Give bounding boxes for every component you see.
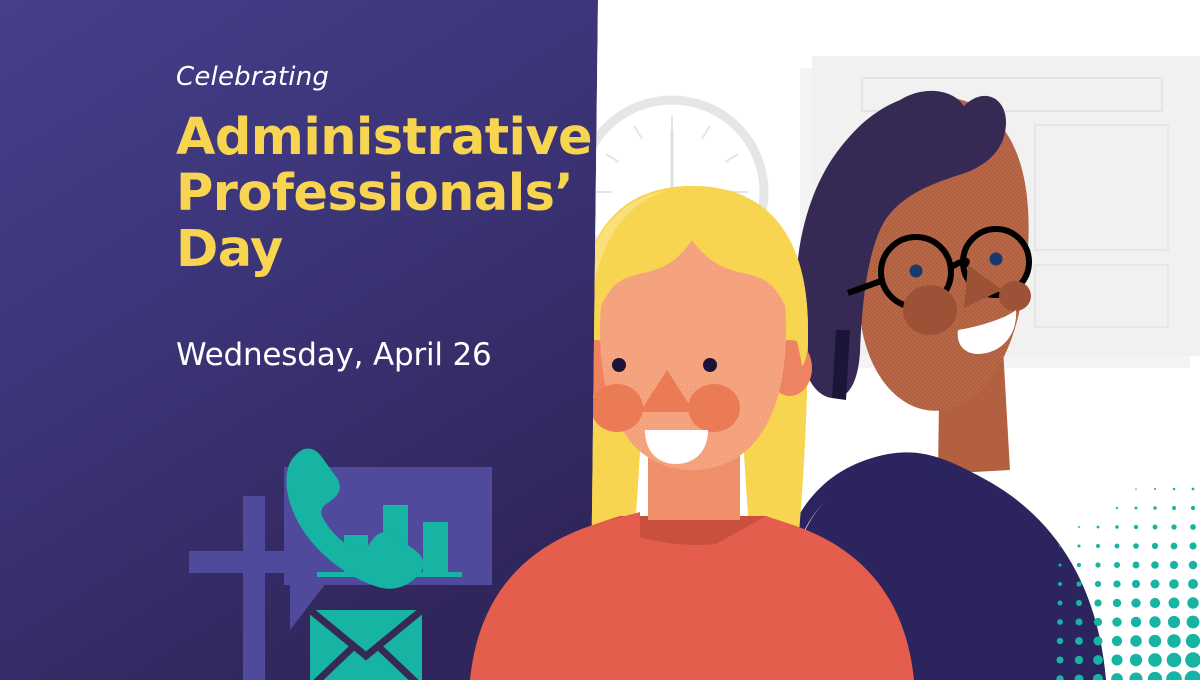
woman-shoulder-foreground bbox=[470, 512, 640, 680]
poster-canvas: Celebrating Administrative Professionals… bbox=[0, 0, 1200, 680]
event-date: Wednesday, April 26 bbox=[176, 336, 576, 374]
page-title: Administrative Professionals’ Day bbox=[176, 110, 576, 278]
eyebrow-text: Celebrating bbox=[176, 60, 576, 94]
headline-block: Celebrating Administrative Professionals… bbox=[176, 60, 576, 374]
